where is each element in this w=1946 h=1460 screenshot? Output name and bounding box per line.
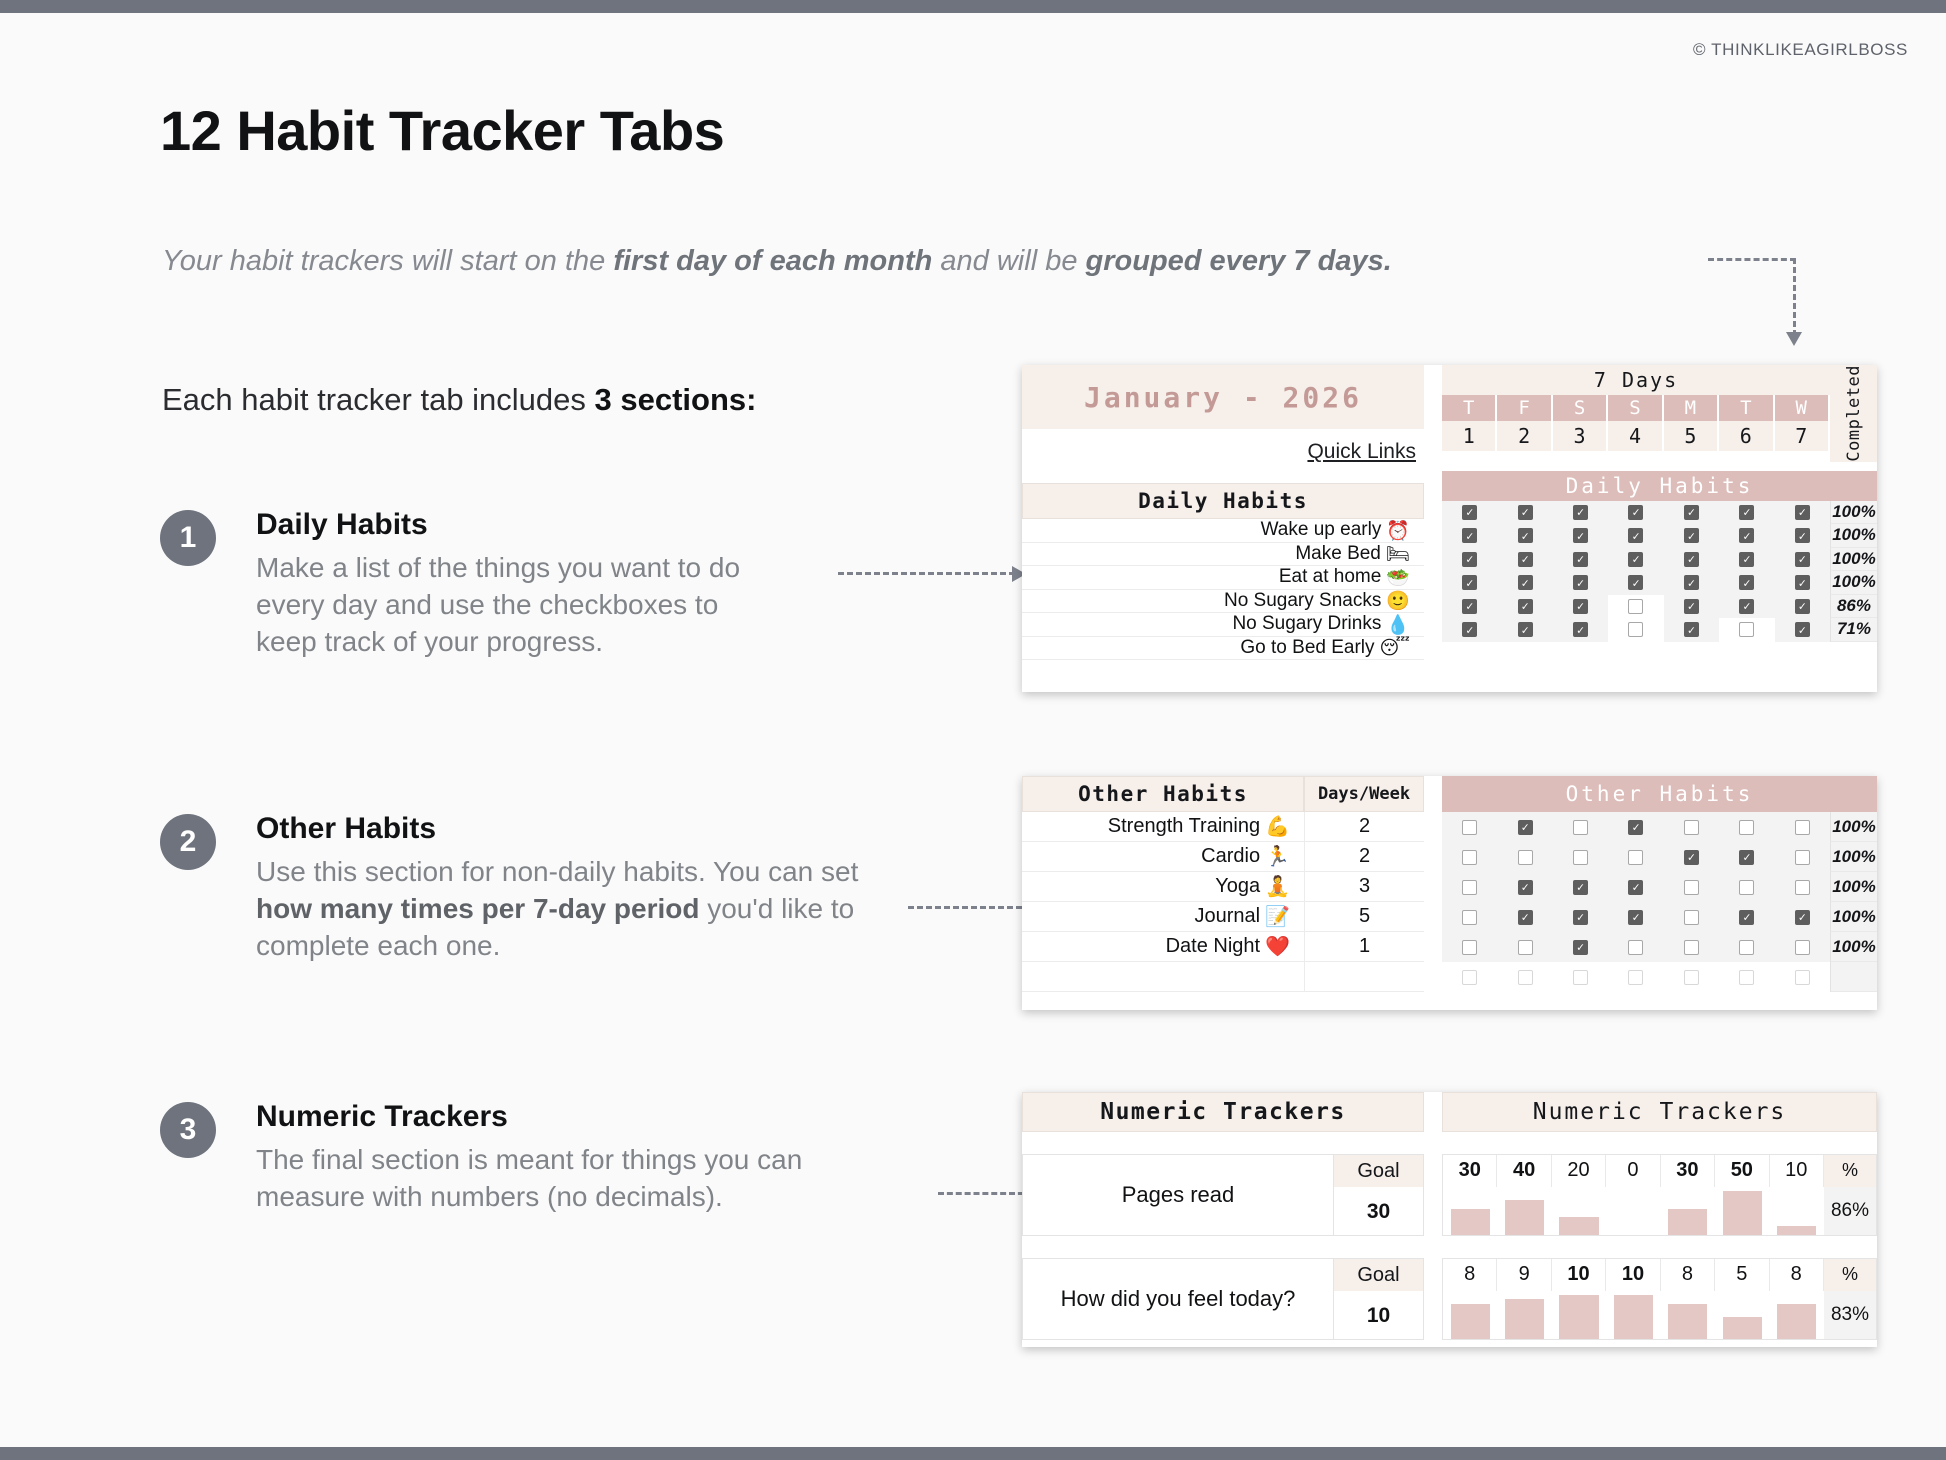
numeric-bar-cell: [1661, 1291, 1715, 1339]
checkbox-checked[interactable]: ✓: [1462, 505, 1477, 520]
daily-check-cell[interactable]: ✓: [1497, 552, 1552, 567]
other-habit-row[interactable]: Strength Training💪2: [1022, 812, 1424, 842]
numeric-tracker-label: Pages read: [1023, 1155, 1333, 1235]
daily-habit-row[interactable]: No Sugary Drinks💧: [1022, 613, 1424, 637]
numeric-bar: [1723, 1191, 1762, 1235]
other-habit-empty-days-cell[interactable]: [1304, 962, 1424, 992]
checkbox-checked[interactable]: ✓: [1518, 622, 1533, 637]
other-check-cell[interactable]: ✓: [1608, 910, 1663, 925]
checkbox-checked[interactable]: ✓: [1628, 552, 1643, 567]
daily-check-cell[interactable]: ✓: [1497, 575, 1552, 590]
days-per-week-value[interactable]: 3: [1304, 872, 1424, 902]
other-check-cell[interactable]: ✓: [1608, 880, 1663, 895]
habit-emoji-icon: 📝: [1265, 904, 1290, 929]
daily-habits-sheet[interactable]: January - 2026 Quick Links Daily Habits …: [1022, 365, 1877, 692]
day-number-row: 1234567: [1442, 421, 1830, 451]
checkbox-checked[interactable]: ✓: [1795, 599, 1810, 614]
daily-check-cell[interactable]: ✓: [1442, 505, 1497, 520]
checkbox-checked[interactable]: ✓: [1573, 910, 1588, 925]
slide-page: © THINKLIKEAGIRLBOSS 12 Habit Tracker Ta…: [0, 0, 1946, 1460]
other-check-cell[interactable]: [1719, 940, 1774, 955]
other-check-cell[interactable]: ✓: [1497, 880, 1552, 895]
checkbox-checked[interactable]: ✓: [1573, 622, 1588, 637]
other-completion-pct: 100%: [1830, 932, 1877, 962]
completed-label: Completed: [1844, 365, 1864, 462]
checkbox-unchecked[interactable]: [1628, 970, 1643, 985]
daily-check-cell[interactable]: ✓: [1719, 599, 1774, 614]
daily-check-cell[interactable]: ✓: [1442, 575, 1497, 590]
numeric-left-pane: Numeric Trackers Pages readGoal30How did…: [1022, 1092, 1424, 1347]
checkbox-checked[interactable]: ✓: [1795, 575, 1810, 590]
other-check-cell-empty[interactable]: [1553, 970, 1608, 985]
habit-emoji-icon: 🙂: [1386, 589, 1410, 612]
checkbox-checked[interactable]: ✓: [1462, 622, 1477, 637]
other-habit-row[interactable]: Yoga🧘3: [1022, 872, 1424, 902]
checkbox-checked[interactable]: ✓: [1795, 528, 1810, 543]
other-habit-empty-row[interactable]: [1022, 962, 1424, 992]
checkbox-checked[interactable]: ✓: [1739, 599, 1754, 614]
checkbox-checked[interactable]: ✓: [1739, 505, 1754, 520]
other-check-cell[interactable]: [1497, 850, 1552, 865]
quick-links-link[interactable]: Quick Links: [1307, 440, 1416, 464]
checkbox-checked[interactable]: ✓: [1739, 528, 1754, 543]
checkbox-checked[interactable]: ✓: [1518, 505, 1533, 520]
daily-check-cell[interactable]: ✓: [1664, 622, 1719, 637]
numeric-bar-row: 83%: [1443, 1291, 1876, 1339]
other-check-cell[interactable]: [1775, 850, 1830, 865]
other-check-cell[interactable]: [1775, 940, 1830, 955]
checkbox-checked[interactable]: ✓: [1518, 552, 1533, 567]
numeric-value-cell[interactable]: 30: [1661, 1155, 1715, 1187]
daily-completion-pct: 100%: [1830, 501, 1877, 525]
checkbox-checked[interactable]: ✓: [1739, 575, 1754, 590]
daily-check-cell[interactable]: ✓: [1664, 575, 1719, 590]
checkbox-unchecked[interactable]: [1795, 850, 1810, 865]
checkbox-unchecked[interactable]: [1518, 940, 1533, 955]
checkbox-checked[interactable]: ✓: [1684, 850, 1699, 865]
other-check-cell[interactable]: ✓: [1719, 910, 1774, 925]
daily-check-cell[interactable]: ✓: [1608, 505, 1663, 520]
days-per-week-value[interactable]: 1: [1304, 932, 1424, 962]
day-number-1: 1: [1442, 421, 1497, 451]
other-habit-row[interactable]: Cardio🏃2: [1022, 842, 1424, 872]
page-title: 12 Habit Tracker Tabs: [160, 98, 724, 163]
other-check-cell[interactable]: ✓: [1497, 820, 1552, 835]
other-habit-label-cell: Cardio🏃: [1022, 842, 1304, 872]
day-letter-1: T: [1442, 395, 1497, 421]
daily-habit-row[interactable]: Wake up early⏰: [1022, 519, 1424, 543]
checkbox-checked[interactable]: ✓: [1795, 622, 1810, 637]
numeric-value-cell[interactable]: 8: [1443, 1259, 1497, 1291]
checkbox-checked[interactable]: ✓: [1684, 622, 1699, 637]
checkbox-checked[interactable]: ✓: [1462, 599, 1477, 614]
other-check-cell[interactable]: ✓: [1775, 910, 1830, 925]
daily-check-cell[interactable]: ✓: [1775, 599, 1830, 614]
checkbox-checked[interactable]: ✓: [1628, 528, 1643, 543]
daily-check-cell[interactable]: ✓: [1553, 599, 1608, 614]
numeric-label-rows: Pages readGoal30How did you feel today?G…: [1022, 1132, 1424, 1340]
step2-text-b: how many times per 7-day period: [256, 893, 699, 924]
other-habit-empty-label-cell[interactable]: [1022, 962, 1304, 992]
goal-label: Goal: [1334, 1155, 1423, 1187]
other-check-cell[interactable]: [1553, 850, 1608, 865]
other-check-cell-empty[interactable]: [1664, 970, 1719, 985]
step-heading-3: Numeric Trackers: [256, 1100, 920, 1134]
numeric-bar: [1505, 1200, 1544, 1235]
daily-habit-row[interactable]: No Sugary Snacks🙂: [1022, 590, 1424, 614]
checkbox-checked[interactable]: ✓: [1739, 910, 1754, 925]
numeric-bar-cell: [1552, 1187, 1606, 1235]
numeric-value-cell[interactable]: 50: [1715, 1155, 1769, 1187]
other-check-cell[interactable]: ✓: [1664, 850, 1719, 865]
other-check-cell[interactable]: [1775, 820, 1830, 835]
numeric-tracker-row[interactable]: Pages readGoal30: [1022, 1154, 1424, 1236]
numeric-value-cell[interactable]: 20: [1552, 1155, 1606, 1187]
checkbox-unchecked[interactable]: [1739, 880, 1754, 895]
checkbox-unchecked[interactable]: [1684, 820, 1699, 835]
other-check-row: ✓✓100%: [1442, 812, 1877, 842]
other-habit-label-cell: Journal📝: [1022, 902, 1304, 932]
daily-check-cell[interactable]: ✓: [1608, 528, 1663, 543]
checkbox-unchecked[interactable]: [1739, 622, 1754, 637]
checkbox-unchecked[interactable]: [1684, 970, 1699, 985]
daily-check-cell[interactable]: ✓: [1775, 552, 1830, 567]
daily-check-cell[interactable]: ✓: [1553, 505, 1608, 520]
daily-completion-pct: 86%: [1830, 595, 1877, 619]
daily-check-cell[interactable]: ✓: [1442, 528, 1497, 543]
step-other-habits: 2 Other Habits Use this section for non-…: [160, 812, 920, 965]
daily-completion-pct: 100%: [1830, 571, 1877, 595]
checkbox-checked[interactable]: ✓: [1518, 910, 1533, 925]
other-check-cell[interactable]: [1664, 910, 1719, 925]
other-habit-row[interactable]: Journal📝5: [1022, 902, 1424, 932]
other-completion-pct: 100%: [1830, 872, 1877, 902]
day-letter-3: S: [1553, 395, 1608, 421]
other-check-cell[interactable]: ✓: [1608, 820, 1663, 835]
habit-emoji-icon: ⏰: [1386, 519, 1410, 542]
daily-habit-label: Go to Bed Early: [1240, 637, 1374, 659]
numeric-chart-rows[interactable]: 3040200305010%86%891010858%83%: [1442, 1132, 1877, 1340]
daily-check-cell[interactable]: ✓: [1553, 622, 1608, 637]
step-heading-2: Other Habits: [256, 812, 920, 846]
checkbox-unchecked[interactable]: [1462, 970, 1477, 985]
checkbox-checked[interactable]: ✓: [1628, 575, 1643, 590]
numeric-value-cell[interactable]: 30: [1443, 1155, 1497, 1187]
numeric-spacer: [1442, 1132, 1877, 1154]
checkbox-unchecked[interactable]: [1739, 940, 1754, 955]
daily-check-cell[interactable]: ✓: [1553, 528, 1608, 543]
checkbox-unchecked[interactable]: [1573, 850, 1588, 865]
days-per-week-value[interactable]: 2: [1304, 842, 1424, 872]
numeric-right-header: Numeric Trackers: [1442, 1092, 1877, 1132]
checkbox-unchecked[interactable]: [1684, 940, 1699, 955]
checkbox-checked[interactable]: ✓: [1684, 599, 1699, 614]
numeric-value-cell[interactable]: 10: [1606, 1259, 1660, 1291]
checkbox-checked[interactable]: ✓: [1684, 528, 1699, 543]
other-check-cell[interactable]: [1442, 880, 1497, 895]
checkbox-checked[interactable]: ✓: [1462, 575, 1477, 590]
daily-check-cell[interactable]: ✓: [1775, 622, 1830, 637]
checkbox-checked[interactable]: ✓: [1628, 505, 1643, 520]
daily-check-cell[interactable]: ✓: [1719, 552, 1774, 567]
checkbox-checked[interactable]: ✓: [1518, 880, 1533, 895]
other-right-pane: Other Habits ✓✓100%✓✓100%✓✓✓100%✓✓✓✓✓100…: [1442, 776, 1877, 1010]
checkbox-unchecked[interactable]: [1684, 910, 1699, 925]
other-check-cell-empty[interactable]: [1497, 970, 1552, 985]
numeric-bar: [1614, 1295, 1653, 1339]
checkbox-checked[interactable]: ✓: [1573, 575, 1588, 590]
numeric-value-cell[interactable]: 5: [1715, 1259, 1769, 1291]
other-check-cell[interactable]: [1664, 820, 1719, 835]
daily-habit-row[interactable]: Make Bed🛏: [1022, 543, 1424, 567]
daily-check-cell[interactable]: ✓: [1497, 528, 1552, 543]
daily-check-cell[interactable]: ✓: [1442, 622, 1497, 637]
checkbox-checked[interactable]: ✓: [1628, 910, 1643, 925]
numeric-spacer: [1022, 1236, 1424, 1258]
other-check-cell[interactable]: [1442, 850, 1497, 865]
daily-check-cell[interactable]: ✓: [1664, 528, 1719, 543]
other-check-cell[interactable]: [1664, 880, 1719, 895]
days-per-week-value[interactable]: 5: [1304, 902, 1424, 932]
daily-completion-pct: 71%: [1830, 618, 1877, 642]
numeric-value-row: 891010858%: [1443, 1259, 1876, 1291]
numeric-trackers-sheet[interactable]: Numeric Trackers Pages readGoal30How did…: [1022, 1092, 1877, 1347]
numeric-value-cell[interactable]: 40: [1497, 1155, 1551, 1187]
checkbox-checked[interactable]: ✓: [1518, 575, 1533, 590]
checkbox-unchecked[interactable]: [1739, 970, 1754, 985]
other-check-cell[interactable]: [1442, 940, 1497, 955]
other-check-cell[interactable]: [1497, 940, 1552, 955]
top-edge-bar: [0, 0, 1946, 13]
step-number-3: 3: [160, 1102, 216, 1158]
daily-habit-label: No Sugary Drinks: [1232, 613, 1381, 635]
daily-check-cell[interactable]: ✓: [1608, 575, 1663, 590]
daily-check-cell[interactable]: ✓: [1497, 505, 1552, 520]
numeric-chart-block[interactable]: 891010858%83%: [1442, 1258, 1877, 1340]
checkbox-unchecked[interactable]: [1462, 880, 1477, 895]
day-number-6: 6: [1719, 421, 1774, 451]
daily-check-cell[interactable]: ✓: [1608, 552, 1663, 567]
other-checkbox-grid[interactable]: ✓✓100%✓✓100%✓✓✓100%✓✓✓✓✓100%✓100%: [1442, 812, 1877, 992]
other-check-cell-empty[interactable]: [1775, 970, 1830, 985]
other-check-row: ✓✓100%: [1442, 842, 1877, 872]
other-check-cell[interactable]: [1719, 820, 1774, 835]
numeric-left-header: Numeric Trackers: [1022, 1092, 1424, 1132]
checkbox-unchecked[interactable]: [1628, 850, 1643, 865]
other-check-cell[interactable]: ✓: [1497, 910, 1552, 925]
goal-value[interactable]: 30: [1334, 1187, 1423, 1236]
day-letter-4: S: [1608, 395, 1663, 421]
numeric-tracker-row[interactable]: How did you feel today?Goal10: [1022, 1258, 1424, 1340]
daily-habit-row[interactable]: Eat at home🥗: [1022, 566, 1424, 590]
daily-check-cell[interactable]: ✓: [1664, 505, 1719, 520]
checkbox-checked[interactable]: ✓: [1795, 910, 1810, 925]
numeric-value-cell[interactable]: 0: [1606, 1155, 1660, 1187]
sections-text: Each habit tracker tab includes: [162, 382, 595, 417]
daily-check-cell[interactable]: ✓: [1553, 575, 1608, 590]
checkbox-unchecked[interactable]: [1462, 940, 1477, 955]
numeric-bar-cell: [1606, 1291, 1660, 1339]
daily-check-cell[interactable]: ✓: [1497, 599, 1552, 614]
daily-check-cell[interactable]: ✓: [1719, 528, 1774, 543]
other-check-cell[interactable]: [1775, 880, 1830, 895]
daily-completion-pct: 100%: [1830, 524, 1877, 548]
checkbox-checked[interactable]: ✓: [1462, 528, 1477, 543]
other-check-cell[interactable]: [1608, 940, 1663, 955]
daily-check-cell[interactable]: ✓: [1775, 575, 1830, 590]
numeric-value-cell[interactable]: 10: [1552, 1259, 1606, 1291]
checkbox-unchecked[interactable]: [1628, 940, 1643, 955]
other-habit-label: Cardio: [1201, 845, 1260, 868]
other-left-header: Other Habits: [1022, 776, 1304, 812]
other-check-cell[interactable]: [1608, 850, 1663, 865]
checkbox-checked[interactable]: ✓: [1573, 940, 1588, 955]
daily-left-pane: January - 2026 Quick Links Daily Habits …: [1022, 365, 1424, 692]
other-check-cell[interactable]: ✓: [1553, 940, 1608, 955]
checkbox-checked[interactable]: ✓: [1518, 820, 1533, 835]
other-habit-label: Yoga: [1215, 875, 1260, 898]
days-week-header: Days/Week: [1304, 776, 1424, 812]
numeric-value-cell[interactable]: 8: [1661, 1259, 1715, 1291]
habit-emoji-icon: 🥗: [1386, 566, 1410, 589]
numeric-bar: [1505, 1299, 1544, 1339]
checkbox-checked[interactable]: ✓: [1518, 599, 1533, 614]
daily-check-cell[interactable]: ✓: [1719, 575, 1774, 590]
step-number-2: 2: [160, 814, 216, 870]
daily-habit-label: Eat at home: [1279, 566, 1381, 588]
day-of-week-row: TFSSMTW: [1442, 395, 1830, 421]
checkbox-checked[interactable]: ✓: [1795, 552, 1810, 567]
daily-check-cell[interactable]: [1719, 618, 1774, 642]
day-number-2: 2: [1497, 421, 1552, 451]
daily-check-cell[interactable]: ✓: [1553, 552, 1608, 567]
other-check-row: ✓✓✓✓✓100%: [1442, 902, 1877, 932]
numeric-chart-block[interactable]: 3040200305010%86%: [1442, 1154, 1877, 1236]
checkbox-checked[interactable]: ✓: [1795, 505, 1810, 520]
checkbox-unchecked[interactable]: [1518, 970, 1533, 985]
checkbox-unchecked[interactable]: [1795, 940, 1810, 955]
numeric-bar-cell: [1770, 1291, 1824, 1339]
other-check-cell-empty[interactable]: [1608, 970, 1663, 985]
checkbox-unchecked[interactable]: [1795, 970, 1810, 985]
daily-check-cell[interactable]: ✓: [1719, 505, 1774, 520]
other-check-cell[interactable]: [1664, 940, 1719, 955]
checkbox-unchecked[interactable]: [1795, 820, 1810, 835]
day-letter-5: M: [1664, 395, 1719, 421]
habit-emoji-icon: 😴: [1380, 637, 1410, 659]
numeric-bar-cell: [1770, 1187, 1824, 1235]
daily-completion-pct: 100%: [1830, 548, 1877, 572]
daily-check-cell[interactable]: ✓: [1664, 552, 1719, 567]
numeric-value-cell[interactable]: 10: [1770, 1155, 1824, 1187]
other-check-cell[interactable]: [1442, 820, 1497, 835]
checkbox-unchecked[interactable]: [1795, 880, 1810, 895]
other-check-cell[interactable]: [1442, 910, 1497, 925]
checkbox-unchecked[interactable]: [1462, 820, 1477, 835]
checkbox-unchecked[interactable]: [1628, 622, 1643, 637]
daily-check-cell[interactable]: [1608, 618, 1663, 642]
checkbox-checked[interactable]: ✓: [1573, 505, 1588, 520]
daily-check-cell[interactable]: ✓: [1775, 528, 1830, 543]
checkbox-checked[interactable]: ✓: [1628, 880, 1643, 895]
days-per-week-value[interactable]: 2: [1304, 812, 1424, 842]
checkbox-unchecked[interactable]: [1462, 910, 1477, 925]
daily-check-row: ✓✓✓✓✓✓✓100%: [1442, 524, 1877, 548]
numeric-bar: [1777, 1304, 1816, 1339]
daily-check-cell[interactable]: [1608, 595, 1663, 619]
checkbox-unchecked[interactable]: [1573, 820, 1588, 835]
other-check-cell[interactable]: ✓: [1719, 850, 1774, 865]
checkbox-unchecked[interactable]: [1684, 880, 1699, 895]
numeric-bar-cell: [1443, 1291, 1497, 1339]
checkbox-checked[interactable]: ✓: [1573, 528, 1588, 543]
other-check-cell[interactable]: ✓: [1553, 880, 1608, 895]
daily-checkbox-grid[interactable]: ✓✓✓✓✓✓✓100%✓✓✓✓✓✓✓100%✓✓✓✓✓✓✓100%✓✓✓✓✓✓✓…: [1442, 501, 1877, 642]
daily-habit-row[interactable]: Go to Bed Early😴: [1022, 637, 1424, 661]
checkbox-unchecked[interactable]: [1573, 970, 1588, 985]
other-check-cell[interactable]: [1719, 880, 1774, 895]
checkbox-checked[interactable]: ✓: [1684, 505, 1699, 520]
checkbox-checked[interactable]: ✓: [1628, 820, 1643, 835]
numeric-value-cell[interactable]: 9: [1497, 1259, 1551, 1291]
other-habit-label-cell: Yoga🧘: [1022, 872, 1304, 902]
other-check-cell[interactable]: ✓: [1553, 910, 1608, 925]
checkbox-checked[interactable]: ✓: [1684, 575, 1699, 590]
numeric-bar-cell: [1443, 1187, 1497, 1235]
habit-emoji-icon: 🛏: [1386, 542, 1410, 565]
daily-check-cell[interactable]: ✓: [1497, 622, 1552, 637]
checkbox-unchecked[interactable]: [1628, 599, 1643, 614]
daily-check-cell[interactable]: ✓: [1775, 505, 1830, 520]
numeric-right-pane: Numeric Trackers 3040200305010%86%891010…: [1442, 1092, 1877, 1347]
numeric-bar-cell: [1497, 1291, 1551, 1339]
numeric-value-cell[interactable]: 8: [1770, 1259, 1824, 1291]
checkbox-checked[interactable]: ✓: [1573, 599, 1588, 614]
checkbox-checked[interactable]: ✓: [1573, 552, 1588, 567]
other-habit-row[interactable]: Date Night❤️1: [1022, 932, 1424, 962]
numeric-goal-column: Goal30: [1333, 1155, 1423, 1235]
checkbox-unchecked[interactable]: [1739, 820, 1754, 835]
other-check-cell[interactable]: [1553, 820, 1608, 835]
checkbox-unchecked[interactable]: [1462, 850, 1477, 865]
other-band-label: Other Habits: [1442, 776, 1877, 812]
daily-check-cell[interactable]: ✓: [1442, 599, 1497, 614]
checkbox-checked[interactable]: ✓: [1462, 552, 1477, 567]
intro-paragraph: Your habit trackers will start on the fi…: [162, 245, 1392, 278]
other-habit-label: Journal: [1194, 905, 1260, 928]
checkbox-checked[interactable]: ✓: [1518, 528, 1533, 543]
other-check-row: ✓✓✓100%: [1442, 872, 1877, 902]
checkbox-checked[interactable]: ✓: [1684, 552, 1699, 567]
goal-value[interactable]: 10: [1334, 1291, 1423, 1340]
numeric-bar-cell: [1552, 1291, 1606, 1339]
checkbox-unchecked[interactable]: [1518, 850, 1533, 865]
daily-check-row: ✓✓✓✓✓✓✓100%: [1442, 548, 1877, 572]
daily-check-cell[interactable]: ✓: [1442, 552, 1497, 567]
other-check-cell-empty[interactable]: [1719, 970, 1774, 985]
step-numeric-trackers: 3 Numeric Trackers The final section is …: [160, 1100, 920, 1216]
checkbox-checked[interactable]: ✓: [1739, 850, 1754, 865]
checkbox-checked[interactable]: ✓: [1573, 880, 1588, 895]
daily-check-cell[interactable]: ✓: [1664, 599, 1719, 614]
other-habits-sheet[interactable]: Other Habits Days/Week Strength Training…: [1022, 776, 1877, 1010]
intro-bold-2: grouped every 7 days.: [1086, 245, 1392, 277]
numeric-bar-cell: [1661, 1187, 1715, 1235]
other-check-cell-empty[interactable]: [1442, 970, 1497, 985]
checkbox-checked[interactable]: ✓: [1739, 552, 1754, 567]
habit-emoji-icon: 🧘: [1265, 874, 1290, 899]
numeric-bar-cell: [1715, 1187, 1769, 1235]
